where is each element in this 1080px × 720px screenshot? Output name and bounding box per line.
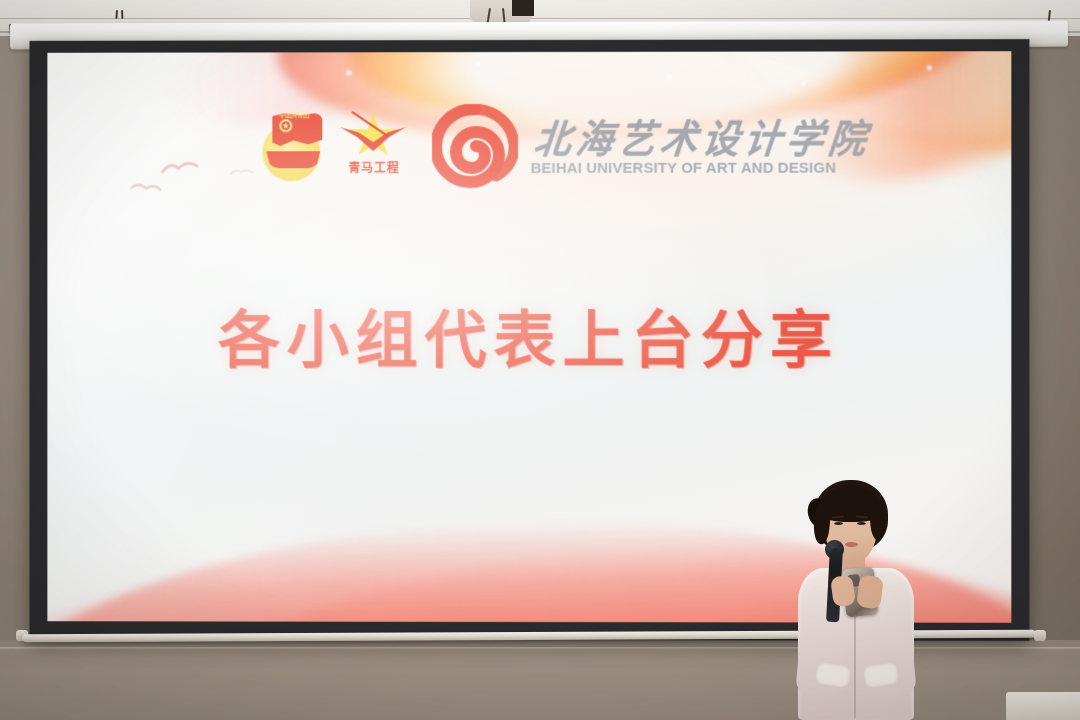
screen-weight-bar-cap <box>1034 630 1046 641</box>
screen-mount-box <box>512 0 534 16</box>
qingma-label: 青马工程 <box>339 158 409 176</box>
presenter-hand-left <box>830 575 856 608</box>
bird-icon <box>229 167 253 177</box>
furniture-edge <box>1006 692 1080 720</box>
bird-icon <box>130 180 162 196</box>
communist-youth-league-emblem-icon: 中国共青团 <box>258 107 330 185</box>
university-name-cn: 北海艺术设计学院 <box>532 120 873 160</box>
presenter-hand-right <box>856 575 884 610</box>
student-presenter <box>760 476 960 720</box>
classroom-scene: 中国共青团 青马工程 北海艺术设计学院 BEIHAI UNIVE <box>0 0 1080 720</box>
ceiling-seam-1 <box>0 18 1080 19</box>
slide-logo-row: 中国共青团 青马工程 北海艺术设计学院 BEIHAI UNIVE <box>258 104 870 189</box>
young-marxist-project-logo-icon: 青马工程 <box>336 107 412 185</box>
university-name-block: 北海艺术设计学院 BEIHAI UNIVERSITY OF ART AND DE… <box>534 115 871 177</box>
presenter-eye <box>857 522 866 525</box>
slide-title: 各小组代表上台分享 <box>47 290 1011 380</box>
university-name-en: BEIHAI UNIVERSITY OF ART AND DESIGN <box>531 160 874 176</box>
presenter-eye <box>834 522 843 525</box>
cyl-banner-label: 中国共青团 <box>264 110 325 120</box>
presenter-mouth <box>845 542 858 547</box>
presenter-cuff <box>815 662 852 689</box>
ceiling-hook-icon <box>121 10 123 19</box>
bird-icon <box>161 160 199 178</box>
beihai-university-swirl-mark-icon <box>432 104 518 188</box>
